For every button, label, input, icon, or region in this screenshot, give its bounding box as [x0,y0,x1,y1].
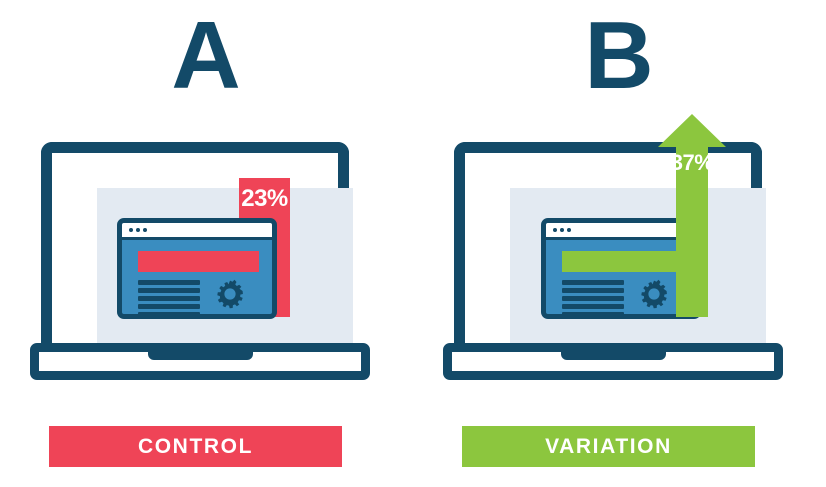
text-line [562,304,624,309]
variant-a-panel: A 23% [0,0,413,487]
browser-a-titlebar [122,223,272,240]
browser-b-text-lines [562,280,624,317]
browser-dot-icon [567,228,571,232]
laptop-a-base [30,343,370,380]
browser-dot-icon [143,228,147,232]
variant-a-label-text: CONTROL [138,435,253,459]
text-line [138,280,200,285]
text-line [562,312,624,317]
browser-dot-icon [560,228,564,232]
text-line [562,296,624,301]
variant-b-metric-arrow: 37% [658,114,726,317]
variant-a-label: CONTROL [49,426,342,467]
variant-b-letter: B [413,4,826,108]
gear-icon [214,278,246,310]
browser-a-text-lines [138,280,200,317]
variant-a-metric-value: 23% [239,185,290,213]
laptop-b-trackpad-notch [561,343,666,360]
browser-a-banner [138,251,259,272]
browser-dot-icon [553,228,557,232]
text-line [562,288,624,293]
text-line [138,296,200,301]
laptop-b-base [443,343,783,380]
text-line [562,280,624,285]
browser-dot-icon [129,228,133,232]
text-line [138,288,200,293]
browser-dot-icon [136,228,140,232]
text-line [138,312,200,317]
variant-b-label-text: VARIATION [545,435,672,459]
variant-a-letter: A [0,4,413,108]
laptop-a-trackpad-notch [148,343,253,360]
variant-b-label: VARIATION [462,426,755,467]
ab-test-illustration: A 23% [0,0,826,487]
variant-b-metric-value: 37% [658,150,726,176]
browser-window-a [117,218,277,319]
text-line [138,304,200,309]
arrow-up-icon [658,114,726,317]
